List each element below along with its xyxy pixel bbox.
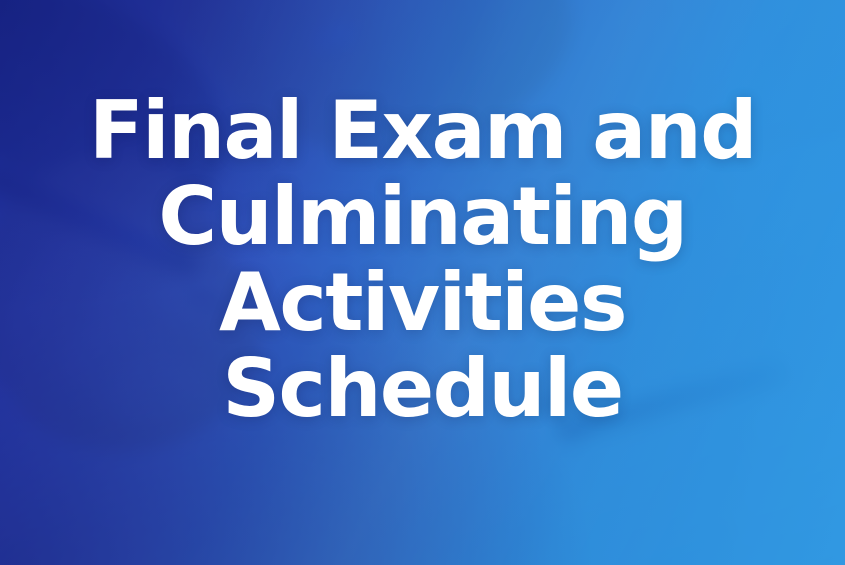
exam-schedule-banner: Final Exam and Culminating Activities Sc… xyxy=(0,0,845,565)
banner-headline: Final Exam and Culminating Activities Sc… xyxy=(0,0,845,565)
headline-line-3: Activities xyxy=(219,260,626,346)
headline-line-4: Schedule xyxy=(222,346,622,432)
headline-line-1: Final Exam and xyxy=(89,88,756,174)
headline-line-2: Culminating xyxy=(158,174,686,260)
